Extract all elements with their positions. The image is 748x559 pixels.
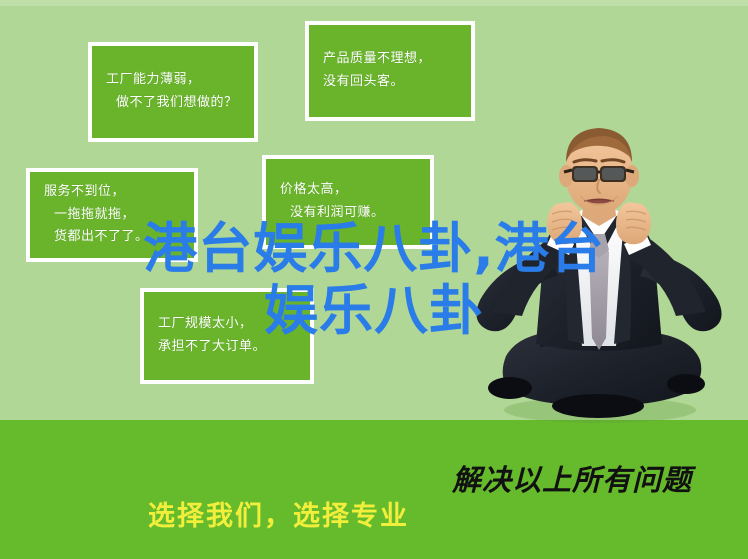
banner-solution-text: 解决以上所有问题 <box>452 457 692 499</box>
problem-text-line: 服务不到位， <box>44 181 182 204</box>
problem-text-line: 工厂能力薄弱， <box>106 69 242 92</box>
problem-text-line: 没有回头客。 <box>323 71 459 94</box>
problem-text-line: 价格太高， <box>280 179 418 202</box>
problem-box-factory-capability: 工厂能力薄弱， 做不了我们想做的？ <box>88 42 258 142</box>
problem-text-line: 做不了我们想做的？ <box>106 92 242 115</box>
problem-text-line: 产品质量不理想， <box>323 48 459 71</box>
problem-text-line: 承担不了大订单。 <box>158 336 298 359</box>
problem-box-price: 价格太高， 没有利润可赚。 <box>262 155 434 249</box>
problem-text-line: 一拖拖就拖， <box>44 204 182 227</box>
problem-box-factory-scale: 工厂规模太小， 承担不了大订单。 <box>140 288 314 384</box>
problem-text-line: 没有利润可赚。 <box>280 202 418 225</box>
banner-slogan-text: 选择我们，选择专业 <box>148 494 409 533</box>
problem-text-line: 工厂规模太小， <box>158 313 298 336</box>
problem-box-service: 服务不到位， 一拖拖就拖， 货都出不了了。 <box>26 168 198 262</box>
problem-box-product-quality: 产品质量不理想， 没有回头客。 <box>305 21 475 121</box>
top-accent-strip <box>0 0 748 6</box>
problem-text-line: 货都出不了了。 <box>44 226 182 249</box>
promotional-poster: 工厂能力薄弱， 做不了我们想做的？ 产品质量不理想， 没有回头客。 服务不到位，… <box>0 0 748 559</box>
stressed-businessman-photo <box>448 110 748 430</box>
